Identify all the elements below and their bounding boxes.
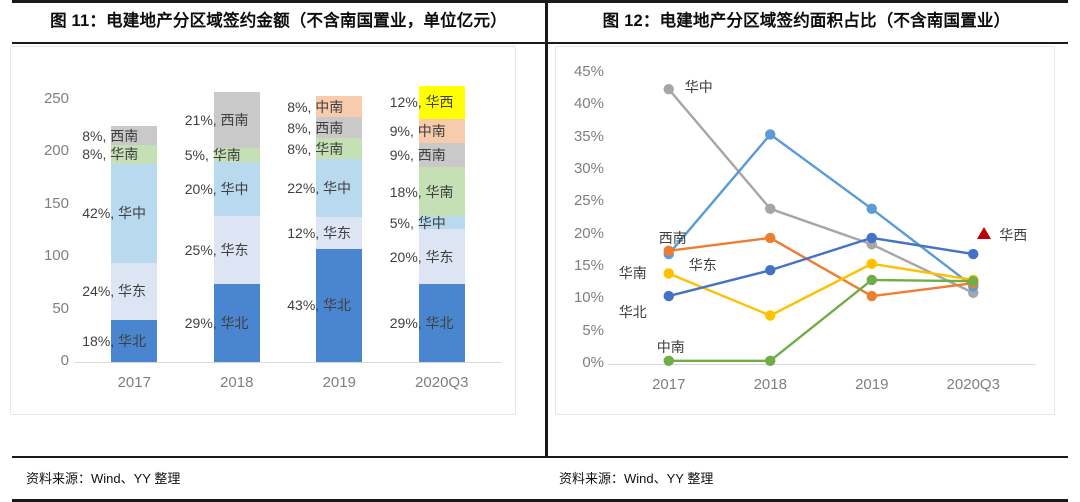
- data-point-中南: [968, 276, 978, 286]
- figure-11-plot-frame: 050100150200250201718%, 华北24%, 华东42%, 华中…: [10, 46, 516, 415]
- bar-data-label: 8%, 西南: [82, 126, 138, 146]
- bar-data-label: 5%, 华中: [390, 213, 446, 233]
- series-inline-label-华北: 华北: [619, 302, 647, 322]
- data-point-华北: [765, 265, 775, 275]
- bar-data-label: 43%, 华北: [287, 295, 351, 315]
- series-inline-label-华南: 华南: [619, 263, 647, 283]
- series-inline-label-西南: 西南: [659, 228, 687, 248]
- figure-12-title: 图 12：电建地产分区域签约面积占比（不含南国置业）: [545, 0, 1068, 42]
- line-chart: 0%5%10%15%20%25%30%35%40%45%201720182019…: [556, 47, 1054, 414]
- data-point-华南: [867, 259, 877, 269]
- data-point-华北: [867, 233, 877, 243]
- bar-data-label: 24%, 华东: [82, 281, 146, 301]
- two-panel-figure-row: 图 11：电建地产分区域签约金额（不含南国置业，单位亿元） 0501001502…: [0, 0, 1080, 502]
- data-point-华中: [765, 204, 775, 214]
- figure-11-source: 资料来源：Wind、YY 整理: [12, 458, 545, 499]
- bar-data-label: 20%, 华中: [185, 179, 249, 199]
- data-point-华南: [664, 268, 674, 278]
- data-point-中南: [664, 356, 674, 366]
- bar-data-label: 18%, 华南: [390, 182, 454, 202]
- data-point-西南: [867, 204, 877, 214]
- bar-data-label: 42%, 华中: [82, 203, 146, 223]
- x-axis-line: [75, 362, 501, 363]
- panel-vertical-divider: [545, 3, 548, 458]
- bar-data-label: 21%, 西南: [185, 110, 249, 130]
- x-axis-tick-label: 2017: [79, 374, 189, 391]
- figure-11-panel: 图 11：电建地产分区域签约金额（不含南国置业，单位亿元） 0501001502…: [0, 0, 545, 502]
- data-point-华东: [765, 233, 775, 243]
- y-axis-tick-label: 100: [11, 247, 69, 264]
- series-inline-label-中南: 中南: [657, 337, 685, 357]
- y-axis-tick-label: 0: [11, 352, 69, 369]
- data-point-华南: [765, 310, 775, 320]
- bar-data-label: 5%, 华南: [185, 145, 241, 165]
- data-point-中南: [765, 356, 775, 366]
- series-inline-label-华西: 华西: [999, 225, 1027, 245]
- bar-data-label: 12%, 华东: [287, 223, 351, 243]
- panel-top-rule: [545, 0, 1068, 3]
- x-axis-tick-label: 2020Q3: [387, 374, 497, 391]
- bar-data-label: 20%, 华东: [390, 247, 454, 267]
- y-axis-tick-label: 50: [11, 300, 69, 317]
- figure-12-plot-frame: 0%5%10%15%20%25%30%35%40%45%201720182019…: [555, 46, 1055, 415]
- data-point-中南: [867, 275, 877, 285]
- y-axis-tick-label: 200: [11, 142, 69, 159]
- bar-data-label: 9%, 中南: [390, 121, 446, 141]
- y-axis-tick-label: 250: [11, 90, 69, 107]
- figure-11-chart-area: 050100150200250201718%, 华北24%, 华东42%, 华中…: [0, 44, 545, 456]
- stacked-bar-chart: 050100150200250201718%, 华北24%, 华东42%, 华中…: [11, 47, 515, 414]
- bar-data-label: 29%, 华北: [390, 313, 454, 333]
- figure-page: 图 11：电建地产分区域签约金额（不含南国置业，单位亿元） 0501001502…: [0, 0, 1080, 502]
- panel-top-rule: [12, 0, 545, 3]
- bar-data-label: 8%, 华南: [287, 139, 343, 159]
- bar-data-label: 8%, 华南: [82, 144, 138, 164]
- data-point-华东: [867, 291, 877, 301]
- data-point-西南: [765, 129, 775, 139]
- series-inline-label-华东: 华东: [689, 255, 717, 275]
- figure-11-title: 图 11：电建地产分区域签约金额（不含南国置业，单位亿元）: [12, 0, 545, 42]
- series-inline-label-华中: 华中: [685, 77, 713, 97]
- bar-data-label: 8%, 中南: [287, 97, 343, 117]
- y-axis-tick-label: 150: [11, 195, 69, 212]
- x-axis-tick-label: 2019: [284, 374, 394, 391]
- data-point-华中: [664, 84, 674, 94]
- bar-data-label: 12%, 华西: [390, 92, 454, 112]
- bar-data-label: 25%, 华东: [185, 240, 249, 260]
- bar-data-label: 9%, 西南: [390, 145, 446, 165]
- bar-data-label: 22%, 华中: [287, 178, 351, 198]
- bar-data-label: 8%, 西南: [287, 118, 343, 138]
- triangle-marker-icon: [977, 227, 991, 239]
- bar-data-label: 29%, 华北: [185, 313, 249, 333]
- x-axis-tick-label: 2018: [182, 374, 292, 391]
- data-point-华北: [968, 249, 978, 259]
- figure-12-panel: 图 12：电建地产分区域签约面积占比（不含南国置业） 0%5%10%15%20%…: [545, 0, 1080, 502]
- figure-12-chart-area: 0%5%10%15%20%25%30%35%40%45%201720182019…: [545, 44, 1080, 456]
- figure-12-source: 资料来源：Wind、YY 整理: [545, 458, 1068, 499]
- data-point-华北: [664, 291, 674, 301]
- bar-data-label: 18%, 华北: [82, 331, 146, 351]
